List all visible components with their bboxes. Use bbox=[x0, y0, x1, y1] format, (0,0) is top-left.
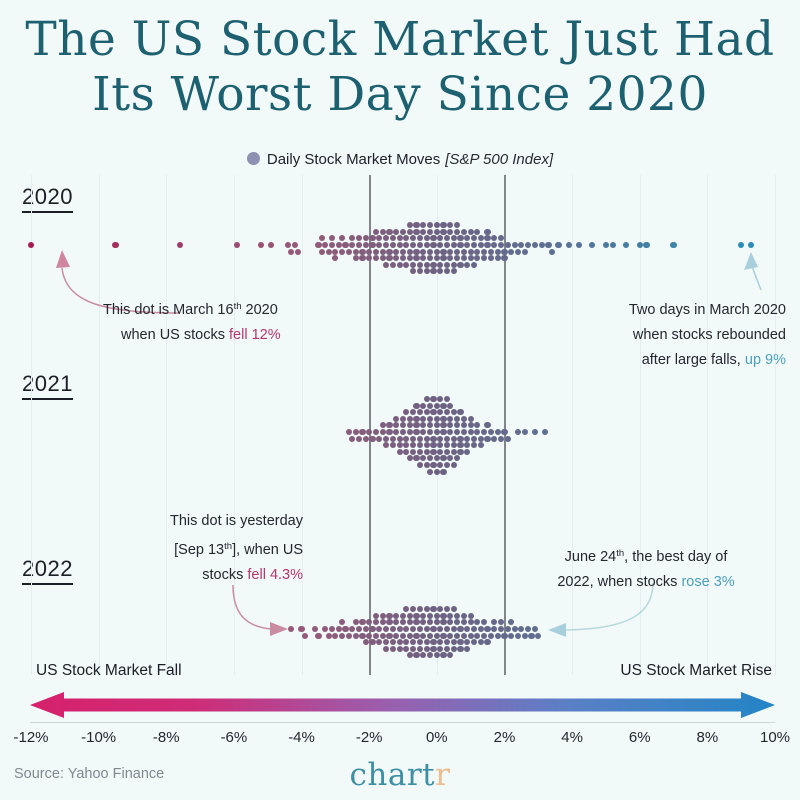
swarm-dot bbox=[356, 436, 362, 442]
faint-gridline bbox=[166, 175, 167, 675]
swarm-dot bbox=[481, 255, 487, 261]
swarm-dot bbox=[410, 235, 416, 241]
swarm-dot bbox=[400, 255, 406, 261]
swarm-dot bbox=[434, 255, 440, 261]
swarm-dot bbox=[501, 429, 507, 435]
swarm-dot bbox=[410, 268, 416, 274]
legend-sublabel: [S&P 500 Index] bbox=[445, 151, 553, 168]
swarm-dot bbox=[373, 613, 379, 619]
swarm-dot bbox=[576, 242, 582, 248]
swarm-dot bbox=[464, 646, 470, 652]
swarm-dot bbox=[488, 255, 494, 261]
annotation-rebound: Two days in March 2020 when stocks rebou… bbox=[586, 298, 786, 373]
swarm-dot bbox=[447, 619, 453, 625]
swarm-dot bbox=[468, 633, 474, 639]
swarm-dot bbox=[440, 633, 446, 639]
swarm-dot bbox=[386, 229, 392, 235]
swarm-dot bbox=[464, 442, 470, 448]
swarm-dot bbox=[376, 626, 382, 632]
annotation-yesterday-highlight: fell 4.3% bbox=[247, 567, 303, 583]
swarm-dot bbox=[461, 633, 467, 639]
swarm-dot bbox=[454, 633, 460, 639]
swarm-dot bbox=[484, 235, 490, 241]
swarm-dot bbox=[474, 229, 480, 235]
swarm-dot bbox=[437, 462, 443, 468]
axis-tick-neg2pct: -2% bbox=[356, 729, 383, 746]
swarm-dot bbox=[542, 429, 548, 435]
swarm-dot bbox=[420, 633, 426, 639]
swarm-dot bbox=[424, 606, 430, 612]
swarm-dot bbox=[386, 429, 392, 435]
legend-label: Daily Stock Market Moves bbox=[267, 151, 440, 168]
swarm-dot bbox=[329, 242, 335, 248]
swarm-dot bbox=[484, 626, 490, 632]
swarm-dot bbox=[447, 652, 453, 658]
swarm-dot bbox=[447, 222, 453, 228]
swarm-dot bbox=[444, 409, 450, 415]
swarm-dot bbox=[292, 242, 298, 248]
swarm-dot bbox=[434, 469, 440, 475]
swarm-dot bbox=[413, 613, 419, 619]
axis-baseline bbox=[30, 722, 775, 723]
swarm-dot bbox=[403, 646, 409, 652]
swarm-dot bbox=[380, 613, 386, 619]
logo-main: chart bbox=[350, 757, 436, 793]
swarm-dot bbox=[413, 255, 419, 261]
faint-gridline bbox=[707, 175, 708, 675]
swarm-dot bbox=[495, 255, 501, 261]
annotation-june-24-line2: 2022, when stocks bbox=[557, 574, 681, 590]
swarm-dot bbox=[434, 229, 440, 235]
swarm-dot bbox=[326, 249, 332, 255]
swarm-dot bbox=[420, 403, 426, 409]
swarm-dot bbox=[532, 626, 538, 632]
swarm-dot bbox=[451, 262, 457, 268]
annotation-june-24-line1: June 24 bbox=[565, 549, 617, 565]
swarm-dot bbox=[397, 646, 403, 652]
swarm-dot bbox=[501, 249, 507, 255]
swarm-dot bbox=[410, 442, 416, 448]
swarm-dot bbox=[451, 242, 457, 248]
swarm-dot bbox=[748, 242, 754, 248]
axis-gradient-arrow bbox=[30, 692, 775, 718]
swarm-dot bbox=[437, 442, 443, 448]
swarm-dot bbox=[383, 262, 389, 268]
swarm-dot bbox=[410, 606, 416, 612]
swarm-dot bbox=[457, 436, 463, 442]
swarm-dot bbox=[468, 619, 474, 625]
swarm-dot bbox=[407, 633, 413, 639]
swarm-dot bbox=[339, 235, 345, 241]
swarm-dot bbox=[332, 249, 338, 255]
swarm-dot bbox=[430, 449, 436, 455]
swarm-dot bbox=[451, 462, 457, 468]
swarm-dot bbox=[315, 633, 321, 639]
swarm-dot bbox=[643, 242, 649, 248]
swarm-dot bbox=[420, 619, 426, 625]
faint-gridline bbox=[302, 175, 303, 675]
annotation-march-16-highlight: fell 12% bbox=[229, 327, 281, 343]
swarm-dot bbox=[454, 255, 460, 261]
swarm-dot bbox=[491, 626, 497, 632]
swarm-dot bbox=[383, 235, 389, 241]
swarm-dot bbox=[525, 242, 531, 248]
swarm-dot bbox=[417, 268, 423, 274]
swarm-dot bbox=[336, 242, 342, 248]
swarm-dot bbox=[468, 255, 474, 261]
swarm-dot bbox=[444, 606, 450, 612]
swarm-dot bbox=[454, 429, 460, 435]
swarm-dot bbox=[444, 462, 450, 468]
swarm-dot bbox=[539, 242, 545, 248]
swarm-dot bbox=[454, 455, 460, 461]
swarm-dot bbox=[380, 633, 386, 639]
swarm-dot bbox=[447, 613, 453, 619]
swarm-dot bbox=[447, 455, 453, 461]
swarm-dot bbox=[373, 249, 379, 255]
swarm-dot bbox=[535, 633, 541, 639]
swarm-dot bbox=[437, 436, 443, 442]
swarm-dot bbox=[410, 436, 416, 442]
swarm-dot bbox=[234, 242, 240, 248]
swarm-dot bbox=[383, 442, 389, 448]
swarm-dot bbox=[386, 633, 392, 639]
swarm-dot bbox=[522, 249, 528, 255]
swarm-dot bbox=[386, 619, 392, 625]
swarm-dot bbox=[427, 469, 433, 475]
swarm-dot bbox=[359, 633, 365, 639]
swarm-dot bbox=[444, 646, 450, 652]
swarm-dot bbox=[295, 249, 301, 255]
swarm-dot bbox=[464, 626, 470, 632]
swarm-dot bbox=[434, 403, 440, 409]
annotation-yesterday-line2b: ], when US bbox=[232, 542, 303, 558]
swarm-dot bbox=[407, 613, 413, 619]
swarm-dot bbox=[623, 242, 629, 248]
swarm-dot bbox=[383, 646, 389, 652]
swarm-dot bbox=[400, 229, 406, 235]
faint-gridline bbox=[775, 175, 776, 675]
swarm-dot bbox=[430, 242, 436, 248]
swarm-dot bbox=[447, 403, 453, 409]
swarm-dot bbox=[437, 268, 443, 274]
swarm-dot bbox=[589, 242, 595, 248]
swarm-dot bbox=[424, 262, 430, 268]
swarm-dot bbox=[410, 409, 416, 415]
swarm-dot bbox=[376, 242, 382, 248]
swarm-dot bbox=[440, 255, 446, 261]
swarm-dot bbox=[407, 455, 413, 461]
swarm-dot bbox=[417, 646, 423, 652]
swarm-dot bbox=[397, 242, 403, 248]
swarm-dot bbox=[437, 262, 443, 268]
swarm-dot bbox=[322, 626, 328, 632]
swarm-dot bbox=[468, 229, 474, 235]
swarm-dot bbox=[420, 229, 426, 235]
swarm-dot bbox=[457, 242, 463, 248]
swarm-dot bbox=[407, 652, 413, 658]
swarm-dot bbox=[400, 429, 406, 435]
swarm-dot bbox=[369, 626, 375, 632]
swarm-dot bbox=[417, 626, 423, 632]
swarm-dot bbox=[454, 249, 460, 255]
swarm-dot bbox=[440, 619, 446, 625]
swarm-dot bbox=[28, 242, 34, 248]
swarm-dot bbox=[434, 619, 440, 625]
swarm-dot bbox=[440, 469, 446, 475]
swarm-dot bbox=[363, 626, 369, 632]
swarm-dot bbox=[498, 626, 504, 632]
swarm-dot bbox=[498, 242, 504, 248]
swarm-dot bbox=[468, 429, 474, 435]
swarm-dot bbox=[434, 633, 440, 639]
swarm-dot bbox=[342, 242, 348, 248]
swarm-dot bbox=[359, 249, 365, 255]
swarm-dot bbox=[403, 639, 409, 645]
swarm-dot bbox=[484, 436, 490, 442]
swarm-dot bbox=[440, 222, 446, 228]
swarm-dot bbox=[440, 422, 446, 428]
swarm-dot bbox=[393, 422, 399, 428]
swarm-dot bbox=[508, 633, 514, 639]
swarm-dot bbox=[315, 242, 321, 248]
swarm-dot bbox=[410, 262, 416, 268]
swarm-dot bbox=[522, 429, 528, 435]
swarm-dot bbox=[478, 235, 484, 241]
axis-tick-8pct: 8% bbox=[697, 729, 719, 746]
annotation-june-24-highlight: rose 3% bbox=[681, 574, 734, 590]
swarm-dot bbox=[369, 639, 375, 645]
axis-tick-10pct: 10% bbox=[760, 729, 790, 746]
swarm-dot bbox=[349, 436, 355, 442]
swarm-dot bbox=[495, 429, 501, 435]
swarm-dot bbox=[349, 626, 355, 632]
swarm-dot bbox=[403, 606, 409, 612]
swarm-dot bbox=[471, 436, 477, 442]
swarm-dot bbox=[461, 619, 467, 625]
annotation-rebound-highlight: up 9% bbox=[745, 352, 786, 368]
swarm-dot bbox=[369, 235, 375, 241]
swarm-dot bbox=[474, 429, 480, 435]
swarm-dot bbox=[444, 242, 450, 248]
page-title: The US Stock Market Just Had Its Worst D… bbox=[0, 12, 800, 122]
swarm-dot bbox=[410, 449, 416, 455]
swarm-dot bbox=[288, 249, 294, 255]
swarm-dot bbox=[373, 429, 379, 435]
swarm-dot bbox=[451, 268, 457, 274]
annotation-yesterday: This dot is yesterday [Sep 13th], when U… bbox=[140, 509, 303, 588]
swarm-dot bbox=[356, 235, 362, 241]
swarm-dot bbox=[427, 255, 433, 261]
swarm-dot bbox=[464, 449, 470, 455]
swarm-dot bbox=[440, 403, 446, 409]
swarm-dot bbox=[112, 242, 118, 248]
chart-legend: Daily Stock Market Moves[S&P 500 Index] bbox=[0, 151, 800, 168]
title-line-2: Its Worst Day Since 2020 bbox=[0, 67, 800, 122]
swarm-dot bbox=[427, 403, 433, 409]
swarm-dot bbox=[424, 436, 430, 442]
swarm-dot bbox=[420, 613, 426, 619]
swarm-dot bbox=[447, 633, 453, 639]
swarm-dot bbox=[420, 249, 426, 255]
swarm-dot bbox=[393, 633, 399, 639]
swarm-dot bbox=[501, 633, 507, 639]
swarm-dot bbox=[400, 416, 406, 422]
swarm-dot bbox=[491, 619, 497, 625]
swarm-dot bbox=[386, 255, 392, 261]
legend-dot-icon bbox=[247, 152, 260, 165]
swarm-dot bbox=[397, 639, 403, 645]
swarm-dot bbox=[457, 449, 463, 455]
swarm-dot bbox=[417, 235, 423, 241]
swarm-dot bbox=[430, 626, 436, 632]
swarm-dot bbox=[424, 442, 430, 448]
swarm-dot bbox=[366, 249, 372, 255]
swarm-dot bbox=[528, 633, 534, 639]
swarm-dot bbox=[424, 409, 430, 415]
swarm-dot bbox=[353, 619, 359, 625]
swarm-dot bbox=[434, 429, 440, 435]
swarm-dot bbox=[393, 619, 399, 625]
swarm-dot bbox=[386, 613, 392, 619]
swarm-dot bbox=[508, 249, 514, 255]
swarm-dot bbox=[393, 249, 399, 255]
swarm-dot bbox=[288, 626, 294, 632]
swarm-dot bbox=[393, 429, 399, 435]
swarm-dot bbox=[373, 255, 379, 261]
swarm-dot bbox=[484, 229, 490, 235]
swarm-dot bbox=[336, 626, 342, 632]
swarm-dot bbox=[738, 242, 744, 248]
swarm-dot bbox=[349, 235, 355, 241]
swarm-dot bbox=[430, 442, 436, 448]
swarm-dot bbox=[407, 416, 413, 422]
swarm-dot bbox=[495, 249, 501, 255]
swarm-dot bbox=[366, 429, 372, 435]
swarm-dot bbox=[471, 626, 477, 632]
swarm-dot bbox=[424, 268, 430, 274]
faint-gridline bbox=[572, 175, 573, 675]
swarm-dot bbox=[457, 442, 463, 448]
swarm-dot bbox=[468, 249, 474, 255]
axis-tick-neg10pct: -10% bbox=[81, 729, 116, 746]
swarm-dot bbox=[400, 619, 406, 625]
swarm-dot bbox=[407, 229, 413, 235]
swarm-dot bbox=[498, 235, 504, 241]
swarm-dot bbox=[437, 449, 443, 455]
annotation-yesterday-sup: th bbox=[224, 541, 232, 552]
swarm-dot bbox=[413, 633, 419, 639]
swarm-dot bbox=[434, 455, 440, 461]
swarm-dot bbox=[427, 652, 433, 658]
swarm-dot bbox=[413, 429, 419, 435]
swarm-dot bbox=[329, 626, 335, 632]
axis-tick-4pct: 4% bbox=[561, 729, 583, 746]
swarm-dot bbox=[410, 626, 416, 632]
axis-tick-neg12pct: -12% bbox=[13, 729, 48, 746]
swarm-dot bbox=[440, 429, 446, 435]
swarm-dot bbox=[505, 242, 511, 248]
swarm-dot bbox=[413, 229, 419, 235]
swarm-dot bbox=[444, 262, 450, 268]
swarm-dot bbox=[359, 429, 365, 435]
swarm-dot bbox=[390, 639, 396, 645]
swarm-dot bbox=[478, 442, 484, 448]
swarm-dot bbox=[373, 633, 379, 639]
swarm-dot bbox=[474, 422, 480, 428]
swarm-dot bbox=[440, 249, 446, 255]
swarm-dot bbox=[339, 619, 345, 625]
swarm-dot bbox=[424, 639, 430, 645]
swarm-dot bbox=[468, 422, 474, 428]
swarm-dot bbox=[461, 613, 467, 619]
annotation-yesterday-line1: This dot is yesterday bbox=[140, 509, 303, 534]
axis-tick-6pct: 6% bbox=[629, 729, 651, 746]
swarm-dot bbox=[532, 242, 538, 248]
swarm-dot bbox=[363, 639, 369, 645]
swarm-dot bbox=[417, 606, 423, 612]
swarm-dot bbox=[491, 242, 497, 248]
swarm-dot bbox=[424, 242, 430, 248]
swarm-dot bbox=[366, 255, 372, 261]
swarm-dot bbox=[424, 449, 430, 455]
swarm-dot bbox=[397, 436, 403, 442]
swarm-dot bbox=[346, 249, 352, 255]
swarm-dot bbox=[515, 633, 521, 639]
swarm-dot bbox=[461, 429, 467, 435]
swarm-dot bbox=[177, 242, 183, 248]
swarm-dot bbox=[312, 626, 318, 632]
annotation-rebound-line1: Two days in March 2020 bbox=[586, 298, 786, 323]
swarm-dot bbox=[468, 613, 474, 619]
swarm-dot bbox=[356, 242, 362, 248]
swarm-dot bbox=[420, 222, 426, 228]
swarm-dot bbox=[417, 462, 423, 468]
swarm-dot bbox=[380, 429, 386, 435]
swarm-dot bbox=[380, 619, 386, 625]
swarm-dot bbox=[430, 235, 436, 241]
swarm-dot bbox=[353, 633, 359, 639]
swarm-dot bbox=[353, 249, 359, 255]
swarm-dot bbox=[386, 422, 392, 428]
swarm-dot bbox=[424, 626, 430, 632]
swarm-dot bbox=[457, 235, 463, 241]
annotation-rebound-line2: when stocks rebounded bbox=[586, 323, 786, 348]
swarm-dot bbox=[437, 646, 443, 652]
swarm-dot bbox=[376, 436, 382, 442]
swarm-dot bbox=[403, 235, 409, 241]
swarm-dot bbox=[461, 416, 467, 422]
swarm-dot bbox=[400, 633, 406, 639]
swarm-dot bbox=[444, 436, 450, 442]
swarm-dot bbox=[555, 242, 561, 248]
swarm-dot bbox=[332, 633, 338, 639]
swarm-dot bbox=[407, 422, 413, 428]
swarm-dot bbox=[471, 442, 477, 448]
swarm-dot bbox=[380, 249, 386, 255]
swarm-dot bbox=[410, 242, 416, 248]
swarm-dot bbox=[393, 613, 399, 619]
swarm-dot bbox=[393, 416, 399, 422]
swarm-dot bbox=[488, 429, 494, 435]
faint-gridline bbox=[31, 175, 32, 675]
swarm-dot bbox=[471, 242, 477, 248]
swarm-dot bbox=[430, 409, 436, 415]
swarm-dot bbox=[471, 639, 477, 645]
swarm-dot bbox=[454, 613, 460, 619]
swarm-dot bbox=[478, 639, 484, 645]
swarm-dot bbox=[390, 626, 396, 632]
